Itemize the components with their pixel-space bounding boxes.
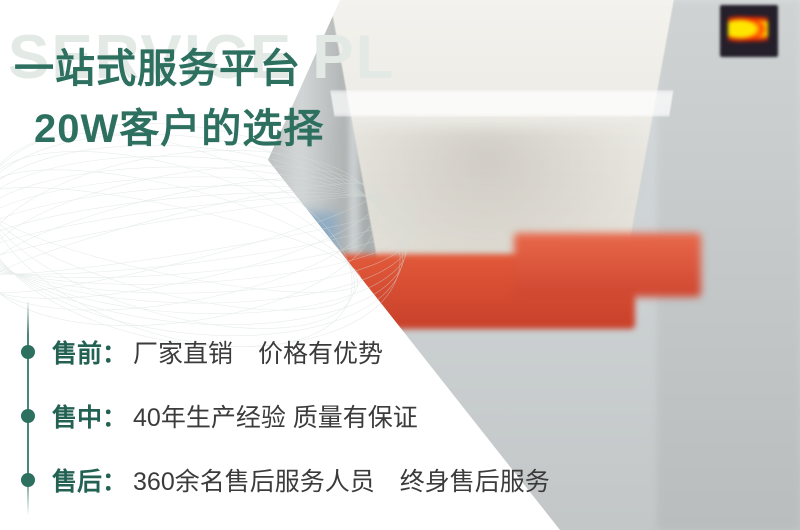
list-item: 售后： 360余名售后服务人员 终身售后服务 [0,448,620,512]
service-text: 厂家直销 价格有优势 [133,334,383,370]
machine-base-red-secondary [514,233,701,297]
bullet-dot-icon [21,345,35,359]
headline-primary: 一站式服务平台 [14,36,301,94]
bullet-dot-icon [21,473,35,487]
bullet-dot-icon [21,409,35,423]
machinery-wrap-band [283,90,712,117]
service-text: 360余名售后服务人员 终身售后服务 [133,462,550,498]
list-item: 售前： 厂家直销 价格有优势 [0,320,620,384]
service-label: 售中： [52,398,127,434]
service-text: 40年生产经验 质量有保证 [133,398,418,434]
service-promo-banner: 以人为本 服务至上 [0,0,800,530]
service-label: 售后： [52,462,127,498]
led-sign [720,5,778,57]
service-list: 售前： 厂家直销 价格有优势 售中： 40年生产经验 质量有保证 售后： 360… [0,320,620,512]
led-sign-glyph [728,15,768,43]
headline-secondary: 20W客户的选择 [34,96,324,154]
list-item: 售中： 40年生产经验 质量有保证 [0,384,620,448]
service-label: 售前： [52,334,127,370]
